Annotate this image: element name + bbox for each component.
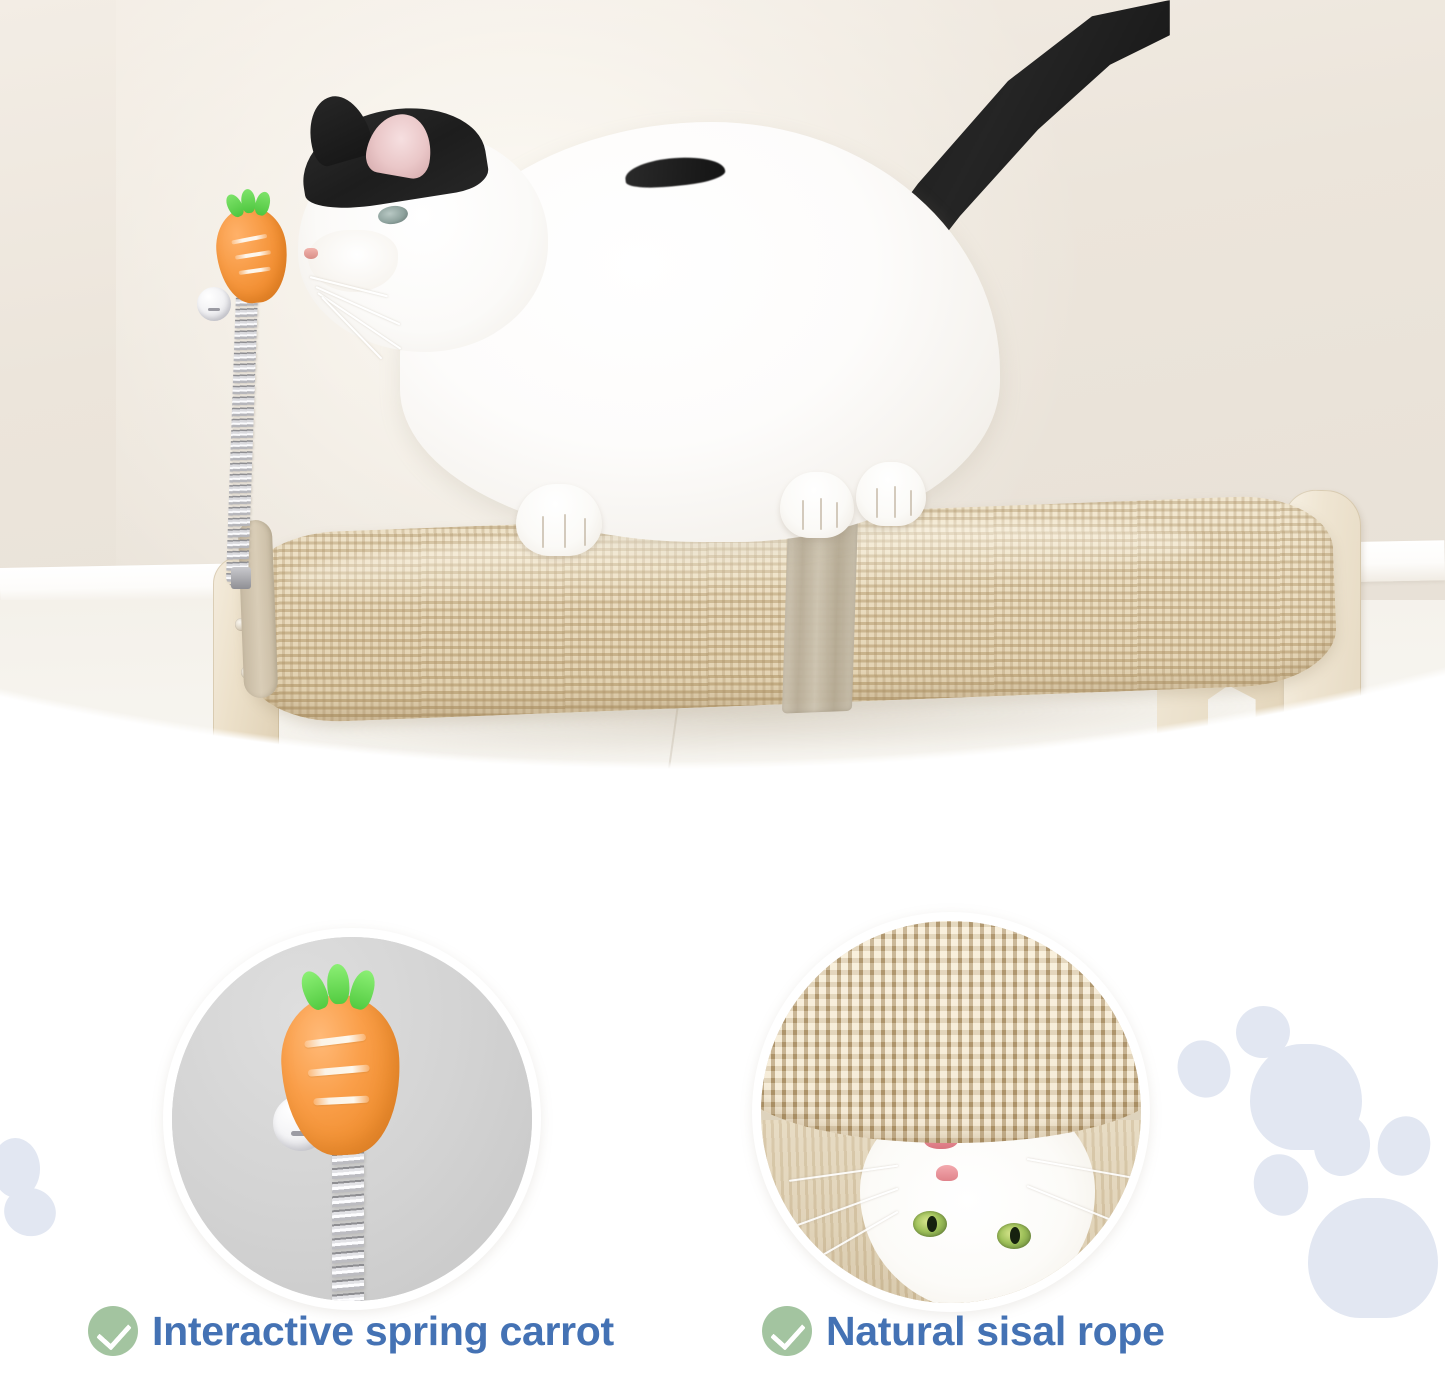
- paw-toe-line: [564, 514, 566, 548]
- carrot-stitch: [235, 250, 271, 260]
- paw-toe-line: [894, 486, 896, 518]
- paw-toe-line: [584, 518, 586, 546]
- feature-item-sisal-rope: Natural sisal rope: [762, 1306, 1165, 1356]
- feature-item-spring-carrot: Interactive spring carrot: [88, 1306, 614, 1356]
- sisal-rope-detail-circle: [752, 912, 1150, 1312]
- paw-toe-line: [542, 516, 544, 548]
- cat-nose: [304, 248, 318, 259]
- feature-caption-row: Interactive spring carrot Natural sisal …: [0, 1300, 1445, 1375]
- check-circle-icon: [88, 1306, 138, 1356]
- jingle-bell-icon: [197, 287, 231, 321]
- paw-toe-line: [820, 498, 822, 530]
- paw-toe-icon: [1169, 1032, 1239, 1105]
- spring-base-mount: [231, 567, 251, 589]
- paw-toe-icon: [1247, 1148, 1314, 1221]
- cat-photo-subject: [270, 80, 1080, 580]
- spring-carrot-detail-circle: [163, 928, 541, 1310]
- kitten-eye-right: [997, 1223, 1031, 1249]
- cat-hind-paw: [780, 472, 854, 538]
- feature-label: Interactive spring carrot: [152, 1308, 614, 1355]
- carrot-stitch: [313, 1096, 369, 1106]
- carrot-stitch: [231, 234, 267, 245]
- product-infographic-page: Interactive spring carrot Natural sisal …: [0, 0, 1445, 1375]
- paw-toe-line: [836, 502, 838, 528]
- carrot-stitch: [239, 267, 271, 275]
- main-product-photo: [0, 0, 1445, 1010]
- cat-front-paw: [516, 484, 602, 556]
- feature-label: Natural sisal rope: [826, 1308, 1165, 1355]
- paw-toe-line: [876, 488, 878, 518]
- sisal-rope-weave: [752, 912, 1150, 1143]
- paw-toe-line: [910, 490, 912, 516]
- metal-spring-coil: [226, 287, 258, 588]
- check-circle-icon: [762, 1306, 812, 1356]
- carrot-stitch: [308, 1065, 370, 1077]
- kitten-nose: [936, 1165, 958, 1181]
- carrot-stitch: [304, 1034, 366, 1049]
- cat-hind-paw: [856, 462, 926, 526]
- paw-toe-line: [802, 500, 804, 530]
